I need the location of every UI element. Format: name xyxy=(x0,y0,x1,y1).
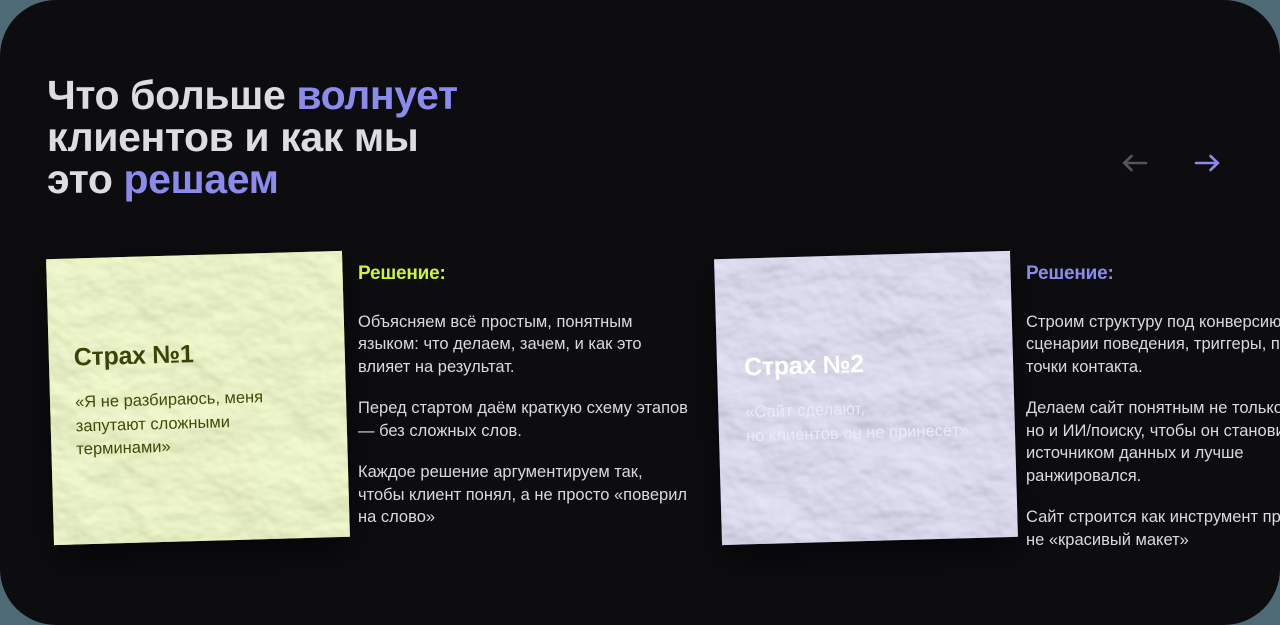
solution-title: Решение: xyxy=(358,263,688,285)
carousel-nav xyxy=(1118,146,1228,180)
fear-card-blue: Страх №2 «Сайт сделают, но клиентов он н… xyxy=(714,251,1018,545)
solution-paragraph: Делаем сайт понятным не только людям, но… xyxy=(1026,397,1280,487)
fear-card-quote: «Я не разбираюсь, меня запутают сложными… xyxy=(75,385,330,462)
solution-paragraph: Сайт строится как инструмент продаж, а н… xyxy=(1026,506,1280,551)
page-title-line2: клиентов и как мы xyxy=(47,114,418,160)
arrow-right-icon xyxy=(1194,154,1220,172)
solution-paragraph: Строим структуру под конверсию: сценарии… xyxy=(1026,311,1280,378)
page-root: Что больше волнуетклиентов и как мыэто р… xyxy=(0,0,1280,625)
carousel-slide: Страх №1 «Я не разбираюсь, меня запутают… xyxy=(42,236,702,566)
page-title: Что больше волнуетклиентов и как мыэто р… xyxy=(47,74,667,201)
fear-card-green: Страх №1 «Я не разбираюсь, меня запутают… xyxy=(46,251,350,545)
fear-card-body: Страх №2 «Сайт сделают, но клиентов он н… xyxy=(744,347,1008,448)
carousel-track[interactable]: Страх №1 «Я не разбираюсь, меня запутают… xyxy=(0,236,1280,566)
page-title-accent-1: волнует xyxy=(296,72,457,118)
solution-paragraph: Каждое решение аргументируем так, чтобы … xyxy=(358,461,688,528)
solution-title: Решение: xyxy=(1026,263,1280,285)
page-title-line3: это xyxy=(47,156,123,202)
fear-card-quote: «Сайт сделают, но клиентов он не принесё… xyxy=(745,394,1007,448)
arrow-left-icon xyxy=(1122,154,1148,172)
page-title-line1: Что больше xyxy=(47,72,296,118)
fear-card-title: Страх №2 xyxy=(744,347,1006,381)
fear-card-title: Страх №1 xyxy=(73,337,327,370)
solution-block: Решение: Строим структуру под конверсию:… xyxy=(1026,263,1280,551)
fear-card-body: Страх №1 «Я не разбираюсь, меня запутают… xyxy=(73,337,329,462)
carousel-prev-button[interactable] xyxy=(1118,146,1152,180)
solution-paragraph: Объясняем всё простым, понятным языком: … xyxy=(358,311,688,378)
carousel-next-button[interactable] xyxy=(1190,146,1224,180)
page-title-accent-2: решаем xyxy=(123,156,278,202)
solution-paragraph: Перед стартом даём краткую схему этапов … xyxy=(358,397,688,442)
solution-block: Решение: Объясняем всё простым, понятным… xyxy=(358,263,688,529)
carousel-slide: Страх №2 «Сайт сделают, но клиентов он н… xyxy=(710,236,1280,566)
